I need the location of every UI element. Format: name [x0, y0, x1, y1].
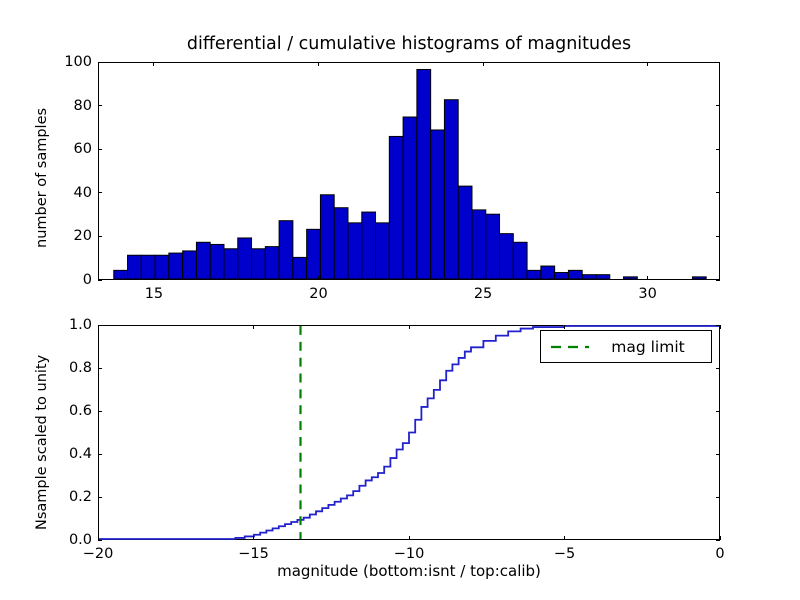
x-tick-label: −5	[554, 546, 575, 562]
histogram-bar	[307, 229, 321, 279]
histogram-bar	[568, 270, 582, 279]
x-tick-mark	[409, 325, 410, 329]
histogram-bar	[500, 234, 514, 279]
y-tick-mark	[98, 325, 102, 326]
x-tick-mark	[564, 536, 565, 540]
histogram-bar	[444, 100, 458, 279]
x-tick-label: 0	[715, 546, 724, 562]
y-tick-label: 80	[46, 98, 92, 114]
histogram-bar	[458, 186, 472, 279]
legend-box[interactable]: mag limit	[540, 330, 712, 363]
y-tick-mark	[716, 62, 720, 63]
chart-title: differential / cumulative histograms of …	[98, 33, 720, 55]
y-tick-label: 1.0	[46, 317, 92, 333]
y-tick-mark	[716, 105, 720, 106]
y-tick-label: 0	[46, 272, 92, 288]
histogram-bar	[527, 270, 541, 279]
y-tick-label: 0.2	[46, 489, 92, 505]
histogram-bar	[389, 136, 403, 279]
histogram-bar	[596, 275, 610, 279]
x-tick-mark	[153, 62, 154, 66]
x-tick-mark	[318, 276, 319, 280]
y-tick-label: 0.4	[46, 446, 92, 462]
y-tick-label: 0.8	[46, 360, 92, 376]
histogram-bar	[210, 244, 224, 279]
histogram-bar	[183, 251, 197, 279]
y-tick-mark	[98, 236, 102, 237]
x-tick-mark	[153, 276, 154, 280]
y-tick-mark	[716, 192, 720, 193]
histogram-bar	[128, 255, 142, 279]
histogram-bar	[293, 257, 307, 279]
x-tick-mark	[647, 276, 648, 280]
y-tick-mark	[716, 540, 720, 541]
histogram-bar	[555, 273, 569, 279]
y-tick-mark	[716, 236, 720, 237]
y-tick-label: 40	[46, 185, 92, 201]
legend-label-mag-limit: mag limit	[590, 338, 702, 356]
histogram-bar	[403, 117, 417, 279]
y-tick-label: 100	[46, 54, 92, 70]
histogram-bar	[417, 69, 431, 279]
differential-histogram-plot	[98, 62, 720, 280]
figure-canvas: differential / cumulative histograms of …	[0, 0, 800, 600]
x-tick-label: 20	[309, 286, 327, 302]
y-tick-mark	[98, 454, 102, 455]
histogram-bar	[541, 266, 555, 279]
x-tick-mark	[483, 276, 484, 280]
histogram-bar	[624, 277, 638, 279]
histogram-bar	[279, 221, 293, 279]
histogram-bars-layer	[99, 63, 719, 279]
y-tick-label: 0.6	[46, 403, 92, 419]
x-tick-mark	[409, 536, 410, 540]
x-tick-label: 25	[474, 286, 492, 302]
y-tick-mark	[716, 280, 720, 281]
histogram-bar	[320, 195, 334, 279]
y-tick-mark	[98, 149, 102, 150]
y-tick-mark	[98, 62, 102, 63]
x-tick-label: −15	[238, 546, 269, 562]
x-tick-mark	[720, 325, 721, 329]
x-tick-mark	[318, 62, 319, 66]
x-tick-mark	[564, 325, 565, 329]
histogram-bar	[114, 270, 128, 279]
y-tick-mark	[716, 411, 720, 412]
x-tick-mark	[253, 536, 254, 540]
y-tick-mark	[716, 454, 720, 455]
histogram-bar	[196, 242, 210, 279]
y-tick-mark	[98, 411, 102, 412]
x-tick-mark	[647, 62, 648, 66]
histogram-bar	[348, 223, 362, 279]
y-tick-mark	[98, 105, 102, 106]
histogram-bar	[238, 238, 252, 279]
histogram-bar	[513, 242, 527, 279]
histogram-bar	[472, 210, 486, 279]
histogram-bar	[486, 214, 500, 279]
x-tick-mark	[253, 325, 254, 329]
histogram-bar	[224, 249, 238, 279]
y-tick-mark	[98, 192, 102, 193]
histogram-bar	[362, 212, 376, 279]
x-tick-label: 15	[145, 286, 163, 302]
histogram-bar	[155, 255, 169, 279]
histogram-bar	[252, 249, 266, 279]
histogram-bar	[376, 223, 390, 279]
x-tick-label: 30	[638, 286, 656, 302]
y-tick-label: 0.0	[46, 532, 92, 548]
x-tick-mark	[483, 62, 484, 66]
histogram-bar	[334, 208, 348, 279]
x-tick-label: −20	[83, 546, 114, 562]
y-tick-label: 20	[46, 228, 92, 244]
histogram-bar	[692, 277, 706, 279]
histogram-bar	[169, 253, 183, 279]
y-tick-mark	[716, 149, 720, 150]
y-tick-label: 60	[46, 141, 92, 157]
dashed-line-icon	[550, 340, 590, 354]
y-tick-mark	[98, 280, 102, 281]
histogram-bar	[431, 130, 445, 279]
y-tick-mark	[716, 497, 720, 498]
x-tick-label: −10	[394, 546, 425, 562]
y-tick-mark	[716, 368, 720, 369]
y-tick-mark	[98, 497, 102, 498]
y-tick-mark	[98, 540, 102, 541]
histogram-bar	[582, 275, 596, 279]
y-tick-mark	[716, 325, 720, 326]
y-tick-mark	[98, 368, 102, 369]
top-plot-y-axis-label: number of samples	[34, 108, 50, 248]
histogram-bar	[265, 247, 279, 279]
x-axis-label: magnitude (bottom:isnt / top:calib)	[98, 562, 720, 580]
x-tick-mark	[98, 325, 99, 329]
